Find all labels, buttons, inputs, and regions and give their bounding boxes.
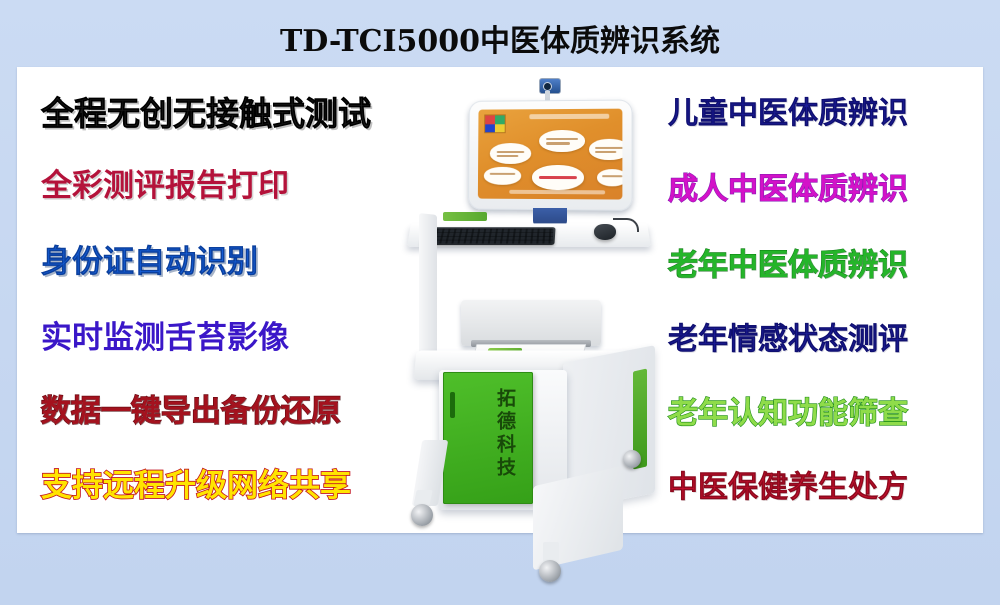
feature-item-right-2: 成人中医体质辨识 bbox=[603, 175, 973, 205]
right-feature-column: 儿童中医体质辨识 成人中医体质辨识 老年中医体质辨识 老年情感状态测评 老年认知… bbox=[603, 67, 973, 533]
camera-icon bbox=[539, 78, 561, 94]
left-feature-column: 全程无创无接触式测试 全彩测评报告打印 身份证自动识别 实时监测舌苔影像 数据一… bbox=[27, 67, 397, 533]
feature-item-right-3: 老年中医体质辨识 bbox=[603, 251, 973, 281]
content-panel: 全程无创无接触式测试 全彩测评报告打印 身份证自动识别 实时监测舌苔影像 数据一… bbox=[17, 67, 983, 533]
feature-item-left-4: 实时监测舌苔影像 bbox=[27, 323, 411, 354]
cabinet-door[interactable]: 拓德科技 bbox=[443, 372, 533, 504]
monitor-screen bbox=[478, 109, 623, 200]
software-logo-icon bbox=[484, 114, 506, 133]
feature-item-left-5: 数据一键导出备份还原 bbox=[27, 397, 411, 427]
feature-item-left-1: 全程无创无接触式测试 bbox=[27, 97, 411, 130]
page-title: TD-TCI5000中医体质辨识系统 bbox=[0, 16, 1000, 60]
screen-bubble bbox=[490, 143, 531, 164]
cabinet-brand-label: 拓德科技 bbox=[492, 388, 519, 480]
feature-item-left-6: 支持远程升级网络共享 bbox=[27, 471, 411, 502]
software-footer-bar bbox=[509, 190, 605, 195]
feature-item-right-6: 中医保健养生处方 bbox=[603, 473, 973, 503]
software-title-bar bbox=[529, 114, 609, 119]
caster-wheel bbox=[411, 504, 433, 526]
green-accent-pad bbox=[443, 212, 487, 221]
caster-arm bbox=[543, 542, 559, 562]
feature-item-left-3: 身份证自动识别 bbox=[27, 247, 411, 278]
screen-bubble bbox=[484, 167, 521, 185]
feature-item-left-2: 全彩测评报告打印 bbox=[27, 171, 411, 202]
keyboard bbox=[421, 227, 556, 245]
feature-item-right-1: 儿童中医体质辨识 bbox=[603, 99, 973, 129]
feature-item-right-5: 老年认知功能筛查 bbox=[603, 399, 973, 429]
cabinet-door-handle[interactable] bbox=[450, 392, 455, 418]
feature-item-right-4: 老年情感状态测评 bbox=[603, 325, 973, 355]
caster-wheel bbox=[539, 560, 561, 582]
poster-background: TD-TCI5000中医体质辨识系统 全程无创无接触式测试 全彩测评报告打印 身… bbox=[0, 0, 1000, 605]
screen-center-bubble bbox=[532, 165, 584, 190]
screen-bubble bbox=[539, 130, 585, 152]
